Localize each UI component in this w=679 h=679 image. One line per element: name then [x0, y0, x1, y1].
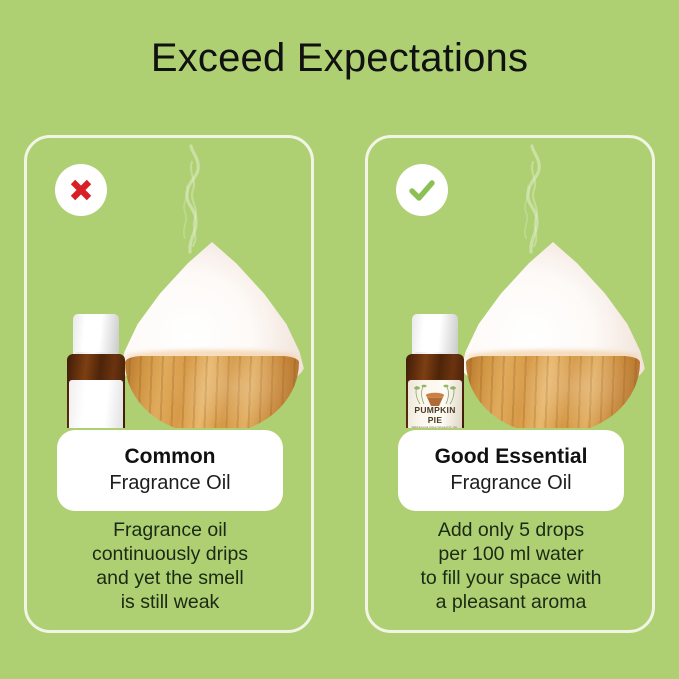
- bottle-label-blank: [69, 380, 123, 428]
- diffuser-wood-base: [125, 356, 299, 428]
- bottle-label-title: PUMPKIN PIE: [408, 406, 462, 425]
- product-description-common: Fragrance oil continuously drips and yet…: [39, 518, 301, 614]
- bottle-cap: [73, 314, 119, 356]
- oil-bottle-good-essential: PUMPKIN PIE PREMIUM FRAGRANCE OIL NET 0.…: [406, 314, 464, 428]
- oil-bottle-common: [67, 314, 125, 428]
- product-scene-good-essential: PUMPKIN PIE PREMIUM FRAGRANCE OIL NET 0.…: [368, 138, 652, 428]
- product-scene-common: [27, 138, 311, 428]
- description-line: is still weak: [39, 590, 301, 614]
- description-line: Add only 5 drops: [380, 518, 642, 542]
- bottle-label-pumpkin-pie: PUMPKIN PIE PREMIUM FRAGRANCE OIL NET 0.…: [408, 380, 462, 428]
- product-name-card-good-essential: Good Essential Fragrance Oil: [398, 430, 624, 511]
- product-brand: Good Essential: [408, 444, 614, 470]
- bottle-cap: [412, 314, 458, 356]
- comparison-panel-good-essential: PUMPKIN PIE PREMIUM FRAGRANCE OIL NET 0.…: [365, 135, 655, 633]
- diffuser-device: [119, 242, 305, 428]
- description-line: to fill your space with: [380, 566, 642, 590]
- comparison-panel-common: Common Fragrance Oil Fragrance oil conti…: [24, 135, 314, 633]
- product-description-good-essential: Add only 5 drops per 100 ml water to fil…: [380, 518, 642, 614]
- vapor-wisp-icon: [155, 142, 225, 254]
- description-line: Fragrance oil: [39, 518, 301, 542]
- diffuser-wood-base: [466, 356, 640, 428]
- vapor-wisp-icon: [496, 142, 566, 254]
- bottle-label-subtitle: PREMIUM FRAGRANCE OIL NET 0.5 FL OZ (15 …: [408, 426, 462, 428]
- product-name-card-common: Common Fragrance Oil: [57, 430, 283, 511]
- product-brand: Common: [67, 444, 273, 470]
- description-line: a pleasant aroma: [380, 590, 642, 614]
- product-comparison-infographic: { "headline": "Exceed Expectations", "th…: [0, 0, 679, 679]
- product-type: Fragrance Oil: [67, 470, 273, 496]
- product-type: Fragrance Oil: [408, 470, 614, 496]
- description-line: and yet the smell: [39, 566, 301, 590]
- diffuser-device: [460, 242, 646, 428]
- description-line: per 100 ml water: [380, 542, 642, 566]
- page-title: Exceed Expectations: [0, 36, 679, 80]
- description-line: continuously drips: [39, 542, 301, 566]
